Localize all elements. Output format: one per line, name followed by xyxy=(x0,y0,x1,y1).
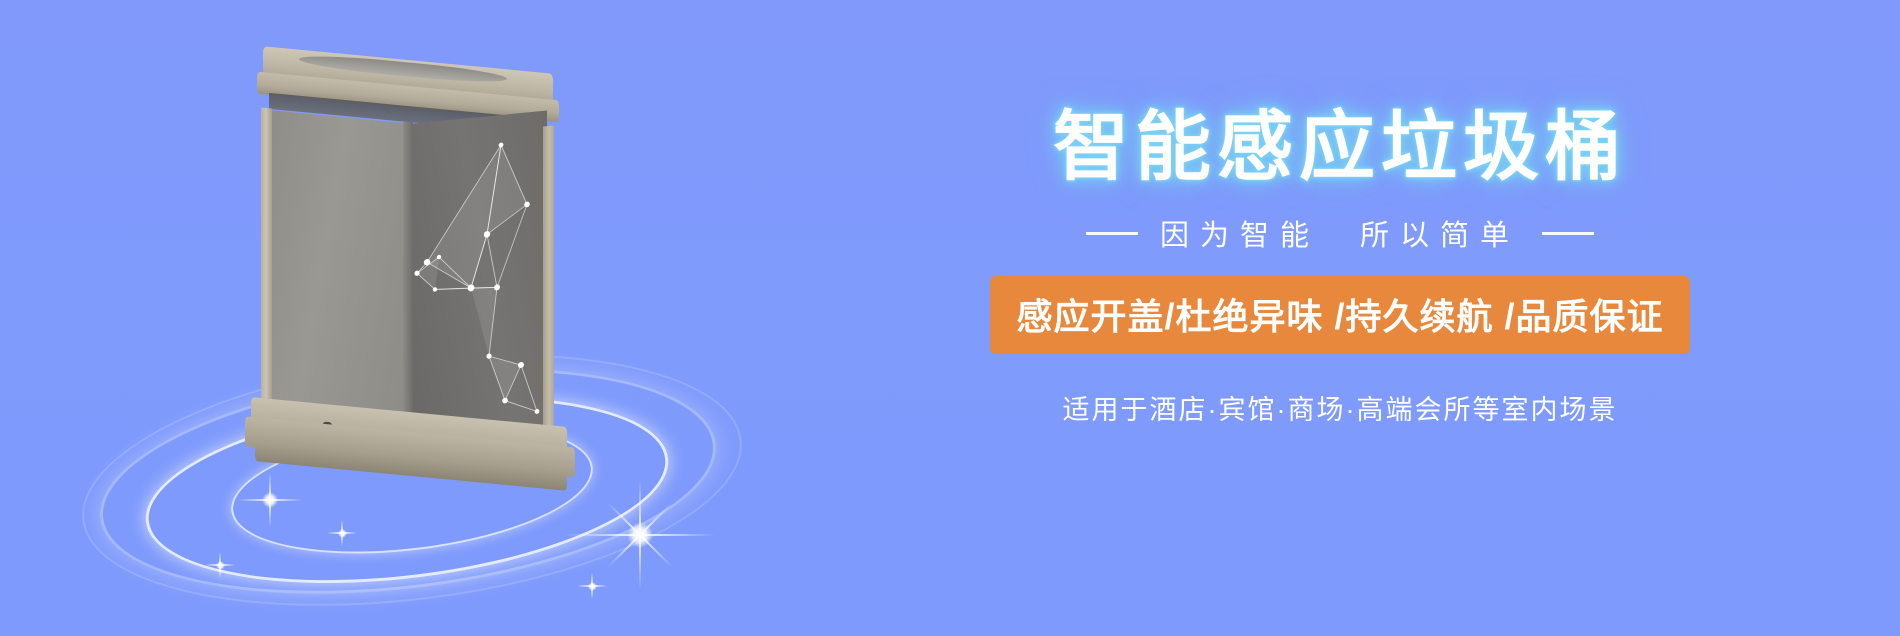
bin-edge-right xyxy=(543,125,554,438)
bin-edge-middle xyxy=(403,122,413,442)
bin-face-left: UFO 智能 科技 SMART SENSOR DUSTBIN xyxy=(269,110,409,444)
product-image-trash-can: UFO 智能 科技 SMART SENSOR DUSTBIN xyxy=(245,60,575,480)
dash-right-decoration xyxy=(1542,232,1594,235)
subtitle-row: 因为智能 所以简单 xyxy=(880,212,1800,254)
marketing-copy: 智能感应垃圾桶 因为智能 所以简单 感应开盖/杜绝异味 /持久续航 /品质保证 … xyxy=(880,110,1800,427)
product-banner: UFO 智能 科技 SMART SENSOR DUSTBIN xyxy=(0,0,1900,636)
subtitle-text: 因为智能 所以简单 xyxy=(1160,212,1520,254)
bin-edge-left xyxy=(261,107,272,436)
bin-face-right xyxy=(409,110,547,444)
page-title: 智能感应垃圾桶 xyxy=(880,110,1800,186)
usage-scenario-text: 适用于酒店·宾馆·商场·高端会所等室内场景 xyxy=(880,388,1800,427)
feature-chip-row: 感应开盖/杜绝异味 /持久续航 /品质保证 xyxy=(880,276,1800,354)
feature-badge: 感应开盖/杜绝异味 /持久续航 /品质保证 xyxy=(990,276,1689,354)
dash-left-decoration xyxy=(1086,232,1138,235)
product-stage: UFO 智能 科技 SMART SENSOR DUSTBIN xyxy=(60,20,760,620)
polygon-network-graphic xyxy=(409,110,547,444)
